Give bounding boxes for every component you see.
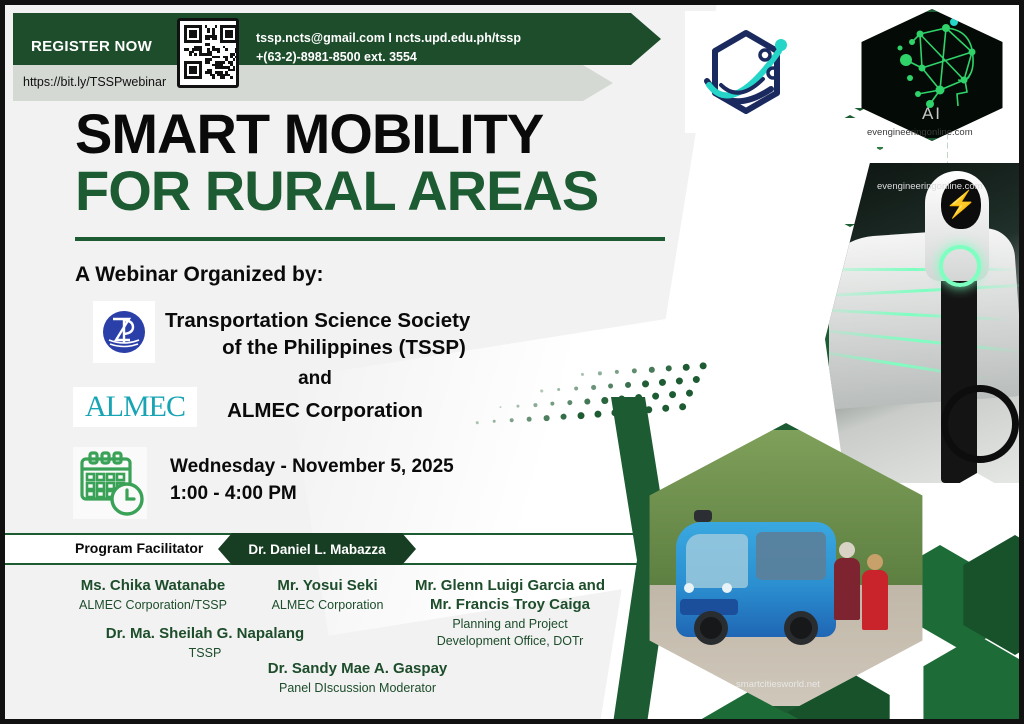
speaker-entry: Dr. Sandy Mae A. Gaspay Panel DIscussion… bbox=[235, 660, 480, 696]
speaker-name-secondary: Mr. Francis Troy Caiga bbox=[400, 596, 620, 615]
facilitator-name: Dr. Daniel L. Mabazza bbox=[248, 542, 385, 557]
contact-phone: +(63-2)-8981-8500 ext. 3554 bbox=[256, 48, 521, 67]
speaker-entry: Dr. Ma. Sheilah G. Napalang TSSP bbox=[90, 625, 320, 661]
facilitator-label: Program Facilitator bbox=[75, 540, 203, 556]
charging-port-icon bbox=[939, 245, 981, 287]
calendar-clock-icon bbox=[73, 447, 147, 519]
speaker-entry: Mr. Yosui Seki ALMEC Corporation bbox=[250, 577, 405, 613]
organizer-conjunction: and bbox=[165, 368, 465, 390]
poster-title: SMART MOBILITY FOR RURAL AREAS bbox=[75, 105, 695, 241]
calendar-icon bbox=[73, 447, 147, 519]
facilitator-chip: Dr. Daniel L. Mabazza bbox=[218, 533, 416, 565]
speaker-name: Ms. Chika Watanabe bbox=[63, 577, 243, 596]
bus-wheel bbox=[694, 611, 728, 645]
header-banner: REGISTER NOW https://bit.ly/TSSPwebinar … bbox=[13, 13, 661, 101]
charging-cable-coil bbox=[941, 385, 1019, 463]
shuttle-bus-body bbox=[676, 522, 836, 637]
speaker-name: Mr. Glenn Luigi Garcia and bbox=[400, 577, 620, 596]
organizer-tssp-line2: of the Philippines (TSSP) bbox=[165, 335, 505, 362]
schedule-text: Wednesday - November 5, 2025 1:00 - 4:00… bbox=[170, 454, 454, 508]
speaker-entry: Ms. Chika Watanabe ALMEC Corporation/TSS… bbox=[63, 577, 243, 613]
speaker-name: Dr. Sandy Mae A. Gaspay bbox=[235, 660, 480, 679]
bus-wheel bbox=[784, 611, 818, 645]
title-line-1: SMART MOBILITY bbox=[75, 105, 695, 162]
watermark-ai: evengineeringonline.com bbox=[867, 127, 973, 138]
speaker-name: Mr. Yosui Seki bbox=[250, 577, 405, 596]
lidar-sensor bbox=[694, 510, 712, 522]
organized-by-heading: A Webinar Organized by: bbox=[75, 263, 324, 287]
bus-windshield bbox=[686, 534, 748, 588]
bus-headlight bbox=[722, 583, 732, 593]
registration-link[interactable]: https://bit.ly/TSSPwebinar bbox=[23, 75, 166, 89]
person-head bbox=[867, 554, 883, 570]
webinar-date: Wednesday - November 5, 2025 bbox=[170, 454, 454, 481]
person-figure bbox=[834, 558, 860, 620]
speaker-affiliation-secondary: Development Office, DOTr bbox=[400, 633, 620, 649]
organizer-almec-name: ALMEC Corporation bbox=[165, 399, 485, 423]
bus-side-window bbox=[756, 532, 826, 580]
title-underline-rule bbox=[75, 237, 665, 241]
hexagon-circuit-icon bbox=[685, 11, 807, 133]
ncts-tech-logo bbox=[685, 11, 807, 133]
webinar-poster: REGISTER NOW https://bit.ly/TSSPwebinar … bbox=[0, 0, 1024, 724]
speaker-entry: Mr. Glenn Luigi Garcia and Mr. Francis T… bbox=[400, 577, 620, 649]
watermark-ev: evengineeringonline.com bbox=[877, 181, 983, 192]
watermark-bus: smartcitiesworld.net bbox=[736, 679, 820, 690]
speaker-affiliation: TSSP bbox=[90, 645, 320, 661]
speaker-name: Dr. Ma. Sheilah G. Napalang bbox=[90, 625, 320, 644]
title-line-2: FOR RURAL AREAS bbox=[75, 162, 695, 219]
qr-code[interactable] bbox=[177, 18, 239, 88]
contact-email-website: tssp.ncts@gmail.com I ncts.upd.edu.ph/ts… bbox=[256, 29, 521, 48]
organizer-tssp-line1: Transportation Science Society bbox=[165, 308, 505, 335]
speaker-affiliation: Planning and Project bbox=[400, 616, 620, 632]
register-now-label: REGISTER NOW bbox=[31, 38, 152, 55]
person-figure bbox=[862, 570, 888, 630]
speaker-affiliation: ALMEC Corporation/TSSP bbox=[63, 597, 243, 613]
speaker-affiliation: Panel DIscussion Moderator bbox=[235, 680, 480, 696]
webinar-time: 1:00 - 4:00 PM bbox=[170, 481, 454, 508]
tssp-logo bbox=[93, 301, 155, 363]
tssp-logo-icon bbox=[99, 307, 149, 357]
bus-headlight bbox=[684, 583, 694, 593]
organizer-tssp-name: Transportation Science Society of the Ph… bbox=[165, 308, 505, 361]
light-streak bbox=[825, 268, 1019, 271]
speaker-affiliation: ALMEC Corporation bbox=[250, 597, 405, 613]
person-head bbox=[839, 542, 855, 558]
contact-info: tssp.ncts@gmail.com I ncts.upd.edu.ph/ts… bbox=[256, 29, 521, 68]
